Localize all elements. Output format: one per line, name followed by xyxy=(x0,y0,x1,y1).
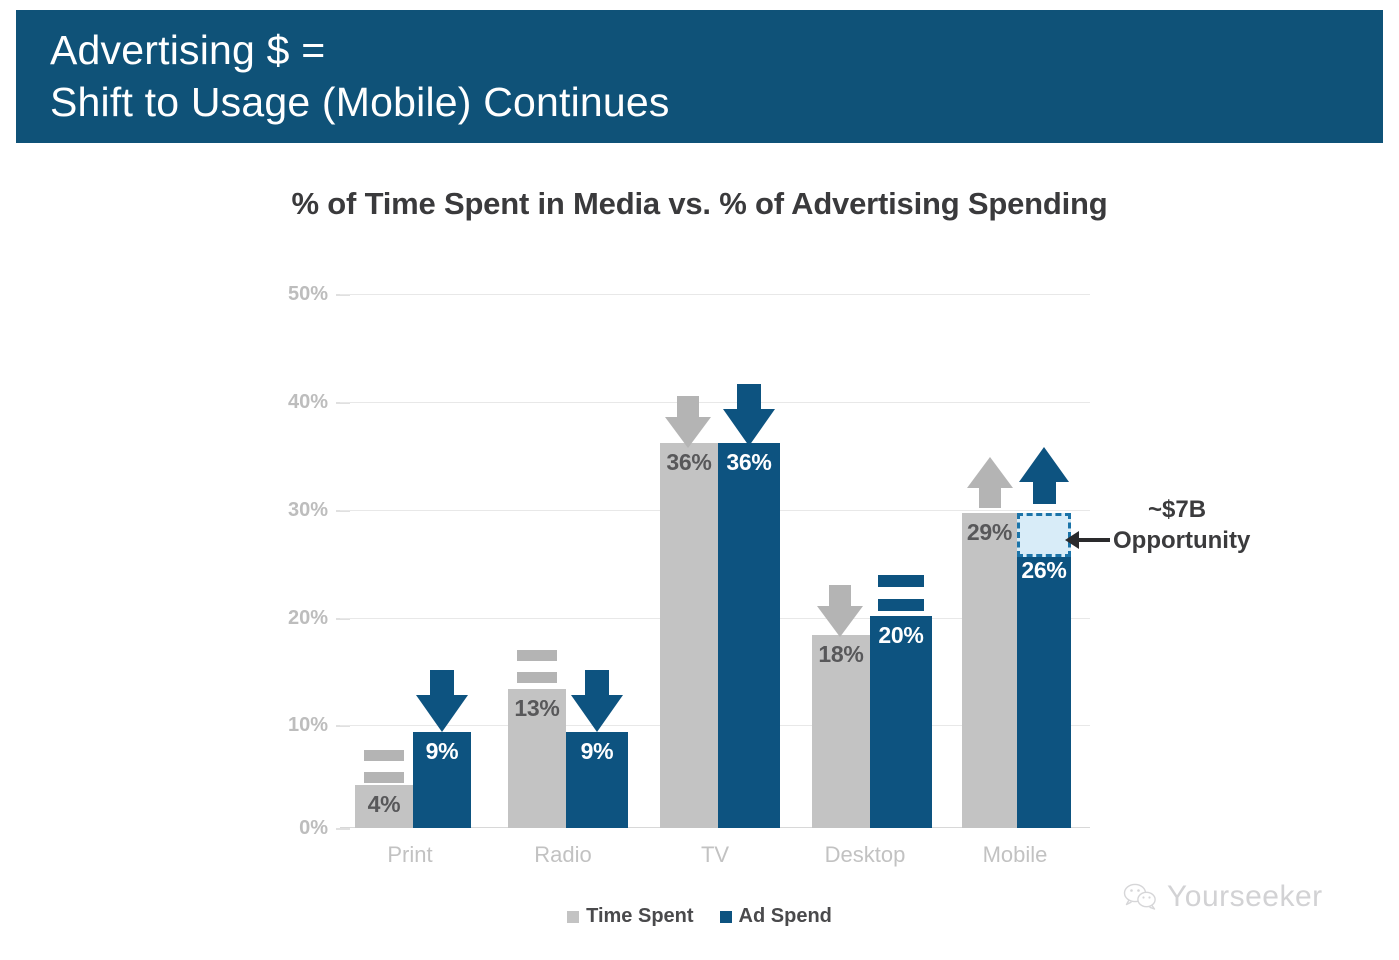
watermark-text: Yourseeker xyxy=(1167,880,1323,914)
bar-mobile-ad-spend[interactable]: 26% xyxy=(1017,551,1071,828)
x-tick-label-mobile: Mobile xyxy=(955,842,1075,868)
bar-label-print-time-spent: 4% xyxy=(355,791,413,818)
bar-label-desktop-ad-spend: 20% xyxy=(870,622,932,649)
bar-print-ad-spend[interactable]: 9% xyxy=(413,732,471,828)
gridline-50 xyxy=(340,294,1090,295)
x-tick-label-radio: Radio xyxy=(503,842,623,868)
bar-desktop-ad-spend[interactable]: 20% xyxy=(870,616,932,828)
legend-label-ad-spend: Ad Spend xyxy=(739,905,832,928)
gridline-40 xyxy=(340,402,1090,403)
watermark: Yourseeker xyxy=(1122,880,1323,914)
chart-container: % of Media Time in Media / Advertising S… xyxy=(0,0,1399,960)
legend-item-time-spent[interactable]: Time Spent xyxy=(567,905,693,928)
trend-marker-print-ad-spend-down xyxy=(416,670,468,732)
trend-marker-mobile-time-spent-up xyxy=(967,456,1013,508)
bar-label-print-ad-spend: 9% xyxy=(413,738,471,765)
trend-marker-tv-time-spent-down xyxy=(665,396,711,448)
bar-label-mobile-ad-spend: 26% xyxy=(1017,557,1071,584)
trend-marker-desktop-time-spent-down xyxy=(817,585,863,637)
bar-label-tv-time-spent: 36% xyxy=(660,449,718,476)
x-tick-label-tv: TV xyxy=(655,842,775,868)
y-tick-label-40: 40% xyxy=(266,391,328,414)
legend-swatch-ad-spend xyxy=(720,911,732,923)
bar-radio-time-spent[interactable]: 13% xyxy=(508,689,566,828)
opportunity-gap-box[interactable] xyxy=(1017,513,1071,557)
trend-marker-tv-ad-spend-down xyxy=(723,384,775,446)
opportunity-annotation-line-1: ~$7B xyxy=(1148,494,1206,525)
bar-radio-ad-spend[interactable]: 9% xyxy=(566,732,628,828)
legend-label-time-spent: Time Spent xyxy=(586,905,693,928)
bar-label-radio-ad-spend: 9% xyxy=(566,738,628,765)
x-tick-label-print: Print xyxy=(350,842,470,868)
bar-tv-ad-spend[interactable]: 36% xyxy=(718,443,780,828)
y-tick-label-30: 30% xyxy=(266,499,328,522)
y-tick-label-10: 10% xyxy=(266,714,328,737)
bar-label-mobile-time-spent: 29% xyxy=(962,519,1017,546)
bar-label-radio-time-spent: 13% xyxy=(508,695,566,722)
bar-label-desktop-time-spent: 18% xyxy=(812,641,870,668)
legend-item-ad-spend[interactable]: Ad Spend xyxy=(720,905,832,928)
bar-tv-time-spent[interactable]: 36% xyxy=(660,443,718,828)
bar-print-time-spent[interactable]: 4% xyxy=(355,785,413,828)
trend-marker-radio-ad-spend-down xyxy=(571,670,623,732)
trend-marker-desktop-ad-spend-equals xyxy=(878,575,924,611)
trend-marker-radio-time-spent-equals xyxy=(517,650,557,684)
y-tick-label-50: 50% xyxy=(266,283,328,306)
bar-mobile-time-spent[interactable]: 29% xyxy=(962,513,1017,828)
x-tick-label-desktop: Desktop xyxy=(805,842,925,868)
opportunity-annotation-arrow-icon xyxy=(1078,538,1110,542)
trend-marker-print-time-spent-equals xyxy=(364,750,404,784)
y-tick-label-0: 0% xyxy=(266,817,328,840)
wechat-icon xyxy=(1122,882,1158,912)
y-tick-mark-0 xyxy=(336,828,350,830)
bar-desktop-time-spent[interactable]: 18% xyxy=(812,635,870,828)
legend-swatch-time-spent xyxy=(567,911,579,923)
opportunity-annotation-line-2: Opportunity xyxy=(1113,525,1250,556)
trend-marker-mobile-ad-spend-up xyxy=(1019,446,1069,504)
y-tick-label-20: 20% xyxy=(266,607,328,630)
bar-label-tv-ad-spend: 36% xyxy=(718,449,780,476)
plot-area: 4% 9% 13% 9% xyxy=(340,294,1090,828)
